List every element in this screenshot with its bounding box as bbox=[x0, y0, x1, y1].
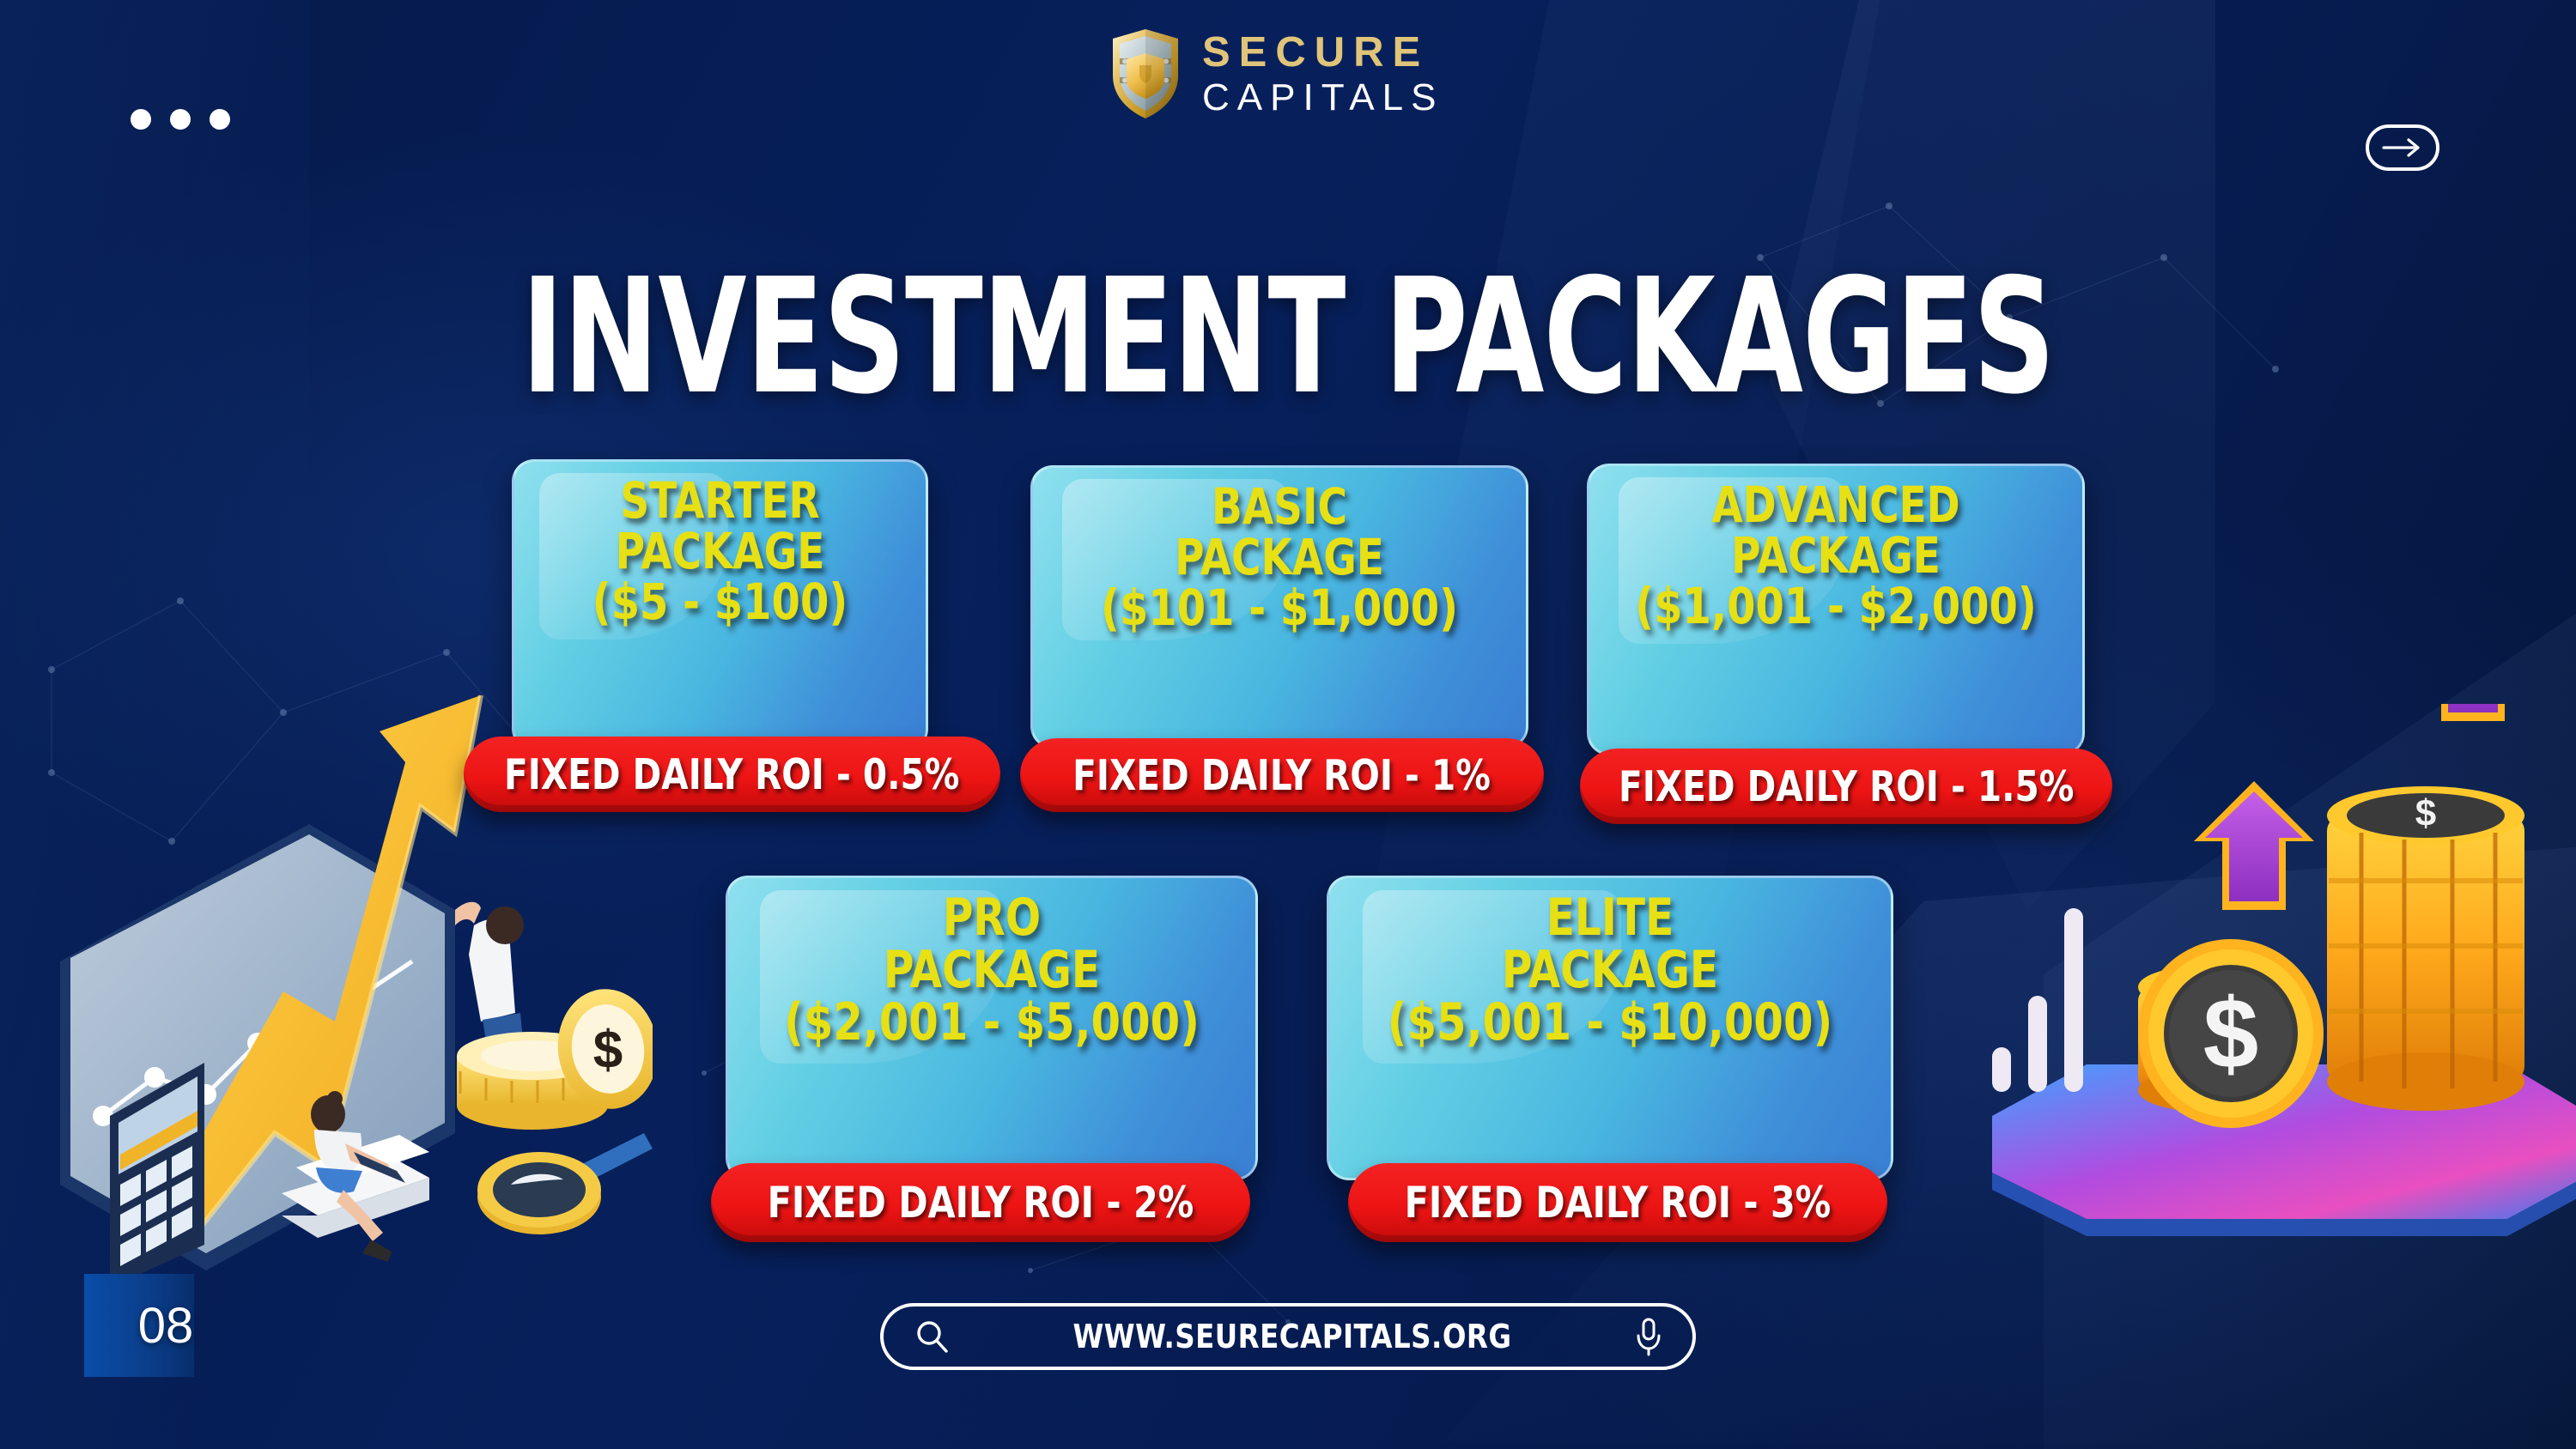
package-card-text: BASICPACKAGE($101 - $1,000) bbox=[1033, 468, 1526, 634]
roi-label: FIXED DAILY ROI - 0.5% bbox=[504, 750, 959, 799]
shield-icon bbox=[1108, 27, 1183, 120]
three-dots-icon[interactable] bbox=[131, 109, 230, 130]
roi-label: FIXED DAILY ROI - 1% bbox=[1073, 751, 1492, 800]
roi-badge-pro: FIXED DAILY ROI - 2% bbox=[711, 1163, 1250, 1242]
package-card-text: PROPACKAGE($2,001 - $5,000) bbox=[728, 878, 1255, 1050]
package-range: ($5 - $100) bbox=[531, 577, 909, 627]
package-card-text: ELITEPACKAGE($5,001 - $10,000) bbox=[1329, 878, 1891, 1050]
package-card-text: STARTERPACKAGE($5 - $100) bbox=[514, 462, 926, 627]
svg-text:$: $ bbox=[2415, 792, 2436, 834]
roi-label: FIXED DAILY ROI - 2% bbox=[768, 1178, 1194, 1228]
brand-logo: SECURE CAPITALS bbox=[1108, 27, 1443, 120]
website-search-bar[interactable]: WWW.SEURECAPITALS.ORG bbox=[880, 1303, 1696, 1370]
page-number: 08 bbox=[84, 1274, 247, 1377]
package-name: ELITE bbox=[1358, 892, 1863, 944]
search-icon bbox=[913, 1318, 951, 1355]
roi-label: FIXED DAILY ROI - 1.5% bbox=[1619, 762, 2074, 811]
slide-canvas: SECURE CAPITALS INVESTMENT PACKAGES bbox=[0, 0, 2576, 1449]
package-range: ($5,001 - $10,000) bbox=[1352, 997, 1868, 1049]
package-card-elite[interactable]: ELITEPACKAGE($5,001 - $10,000) bbox=[1327, 876, 1893, 1180]
package-card-text: ADVANCEDPACKAGE($1,001 - $2,000) bbox=[1589, 466, 2082, 632]
package-name: BASIC bbox=[1058, 482, 1502, 532]
brand-name-line1: SECURE bbox=[1202, 32, 1443, 74]
package-name: PRO bbox=[755, 892, 1230, 944]
package-word: PACKAGE bbox=[1058, 532, 1502, 583]
package-range: ($2,001 - $5,000) bbox=[750, 997, 1235, 1049]
package-name: ADVANCED bbox=[1614, 480, 2058, 530]
dot-2 bbox=[170, 109, 191, 130]
svg-text:$: $ bbox=[593, 1021, 623, 1080]
package-card-basic[interactable]: BASICPACKAGE($101 - $1,000) bbox=[1030, 465, 1528, 749]
brand-name-line2: CAPITALS bbox=[1202, 79, 1443, 117]
roi-badge-basic: FIXED DAILY ROI - 1% bbox=[1020, 738, 1544, 812]
package-word: PACKAGE bbox=[755, 944, 1230, 997]
roi-badge-advanced: FIXED DAILY ROI - 1.5% bbox=[1580, 749, 2112, 824]
package-word: PACKAGE bbox=[1358, 944, 1863, 997]
website-url: WWW.SEURECAPITALS.ORG bbox=[968, 1318, 1617, 1355]
roi-label: FIXED DAILY ROI - 3% bbox=[1405, 1178, 1832, 1228]
roi-badge-starter: FIXED DAILY ROI - 0.5% bbox=[464, 737, 1000, 812]
package-name: STARTER bbox=[535, 476, 905, 526]
microphone-icon[interactable] bbox=[1634, 1317, 1663, 1356]
package-word: PACKAGE bbox=[535, 526, 905, 577]
package-word: PACKAGE bbox=[1614, 530, 2058, 581]
dot-1 bbox=[131, 109, 151, 130]
package-card-pro[interactable]: PROPACKAGE($2,001 - $5,000) bbox=[726, 876, 1258, 1180]
arrow-right-icon bbox=[2381, 136, 2424, 159]
package-range: ($101 - $1,000) bbox=[1053, 583, 1506, 634]
package-range: ($1,001 - $2,000) bbox=[1609, 581, 2063, 632]
page-title: INVESTMENT PACKAGES bbox=[258, 258, 2318, 416]
package-card-advanced[interactable]: ADVANCEDPACKAGE($1,001 - $2,000) bbox=[1587, 464, 2085, 755]
roi-badge-elite: FIXED DAILY ROI - 3% bbox=[1348, 1163, 1887, 1242]
next-slide-button[interactable] bbox=[2366, 124, 2439, 171]
svg-text:$: $ bbox=[2203, 978, 2259, 1089]
package-card-starter[interactable]: STARTERPACKAGE($5 - $100) bbox=[512, 459, 928, 751]
dot-3 bbox=[210, 109, 230, 130]
